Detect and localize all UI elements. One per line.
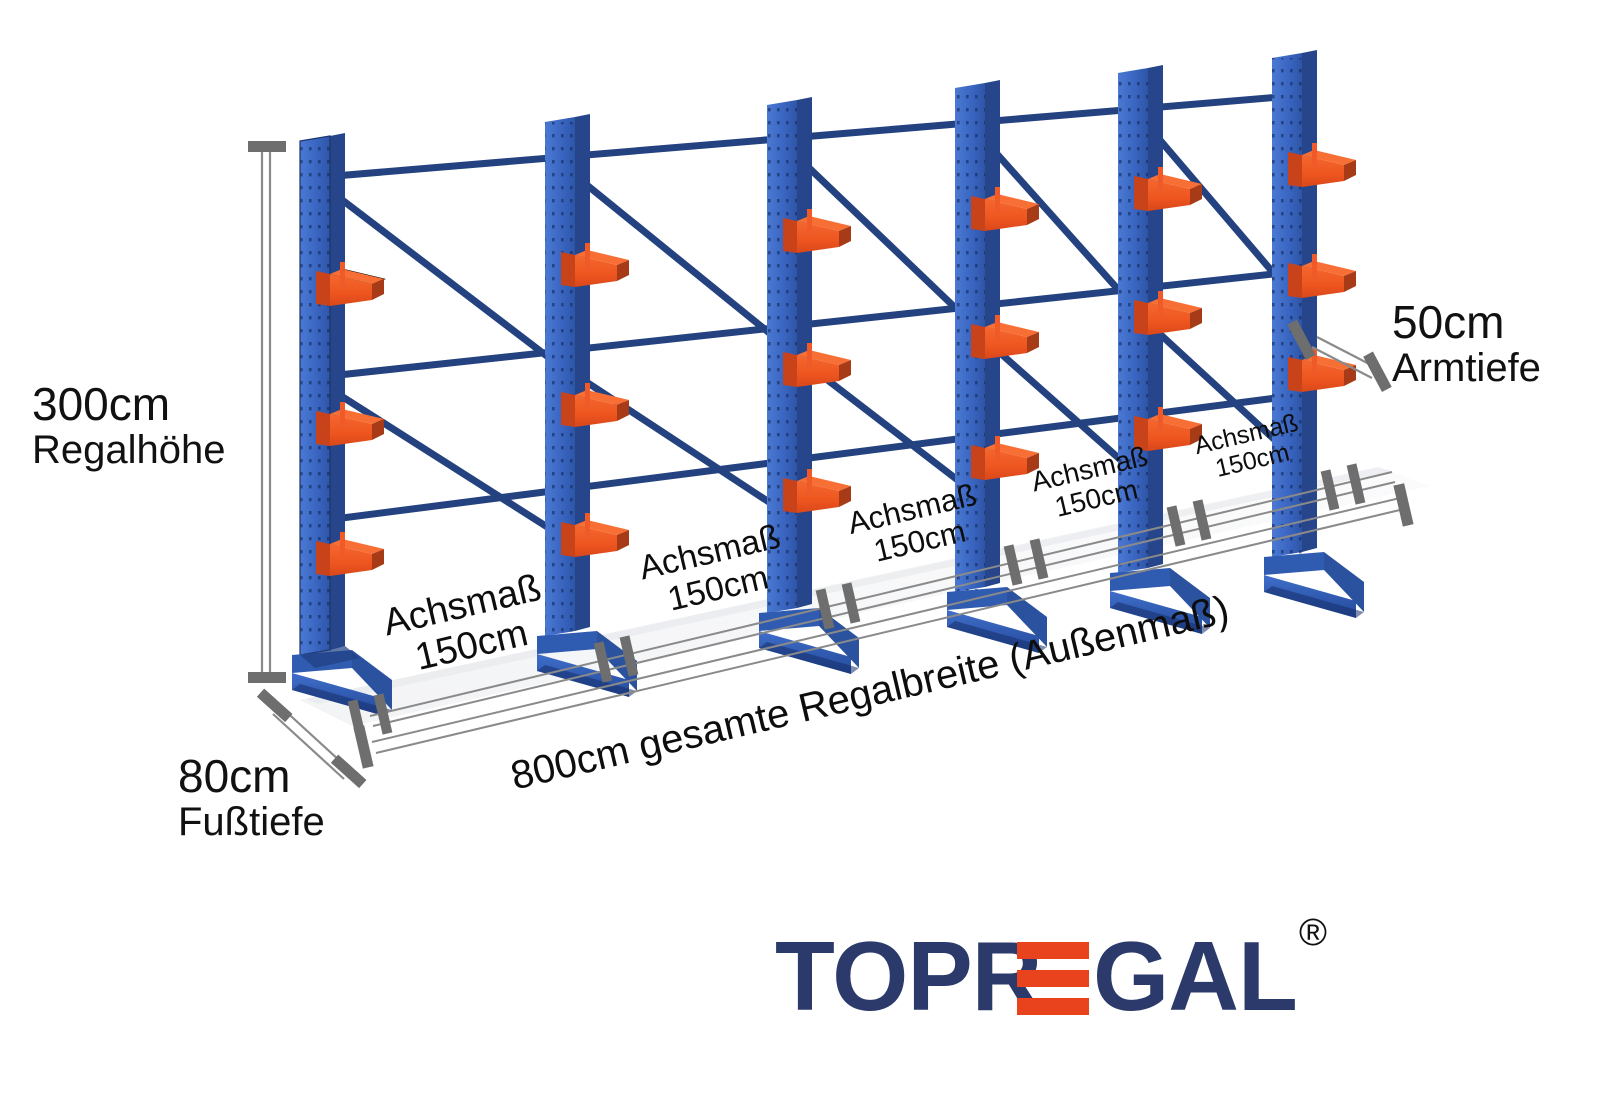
diagram-canvas: 300cm Regalhöhe 80cm Fußtiefe 50cm Armti…	[0, 0, 1600, 1100]
logo-e-icon	[1017, 942, 1089, 1014]
height-value: 300cm	[32, 378, 170, 430]
arm-depth-caption: Armtiefe	[1392, 347, 1541, 389]
registered-trademark-icon: ®	[1299, 912, 1327, 955]
foot-depth-label: 80cm Fußtiefe	[178, 752, 325, 843]
arm-depth-value: 50cm	[1392, 296, 1504, 348]
dimension-height	[248, 141, 286, 683]
upright-frame-5	[1110, 65, 1210, 634]
foot-depth-caption: Fußtiefe	[178, 801, 325, 843]
arm-depth-label: 50cm Armtiefe	[1392, 298, 1541, 389]
topregal-logo: TOPR GAL ®	[775, 920, 1375, 1030]
logo-text-part1: TOPR	[775, 920, 1041, 1033]
logo-text-part2: GAL	[1093, 920, 1297, 1033]
foot-depth-value: 80cm	[178, 750, 290, 802]
upright-frame-6	[1264, 50, 1364, 618]
height-label: 300cm Regalhöhe	[32, 380, 226, 471]
brace-diagonal	[316, 180, 552, 360]
height-caption: Regalhöhe	[32, 429, 226, 471]
